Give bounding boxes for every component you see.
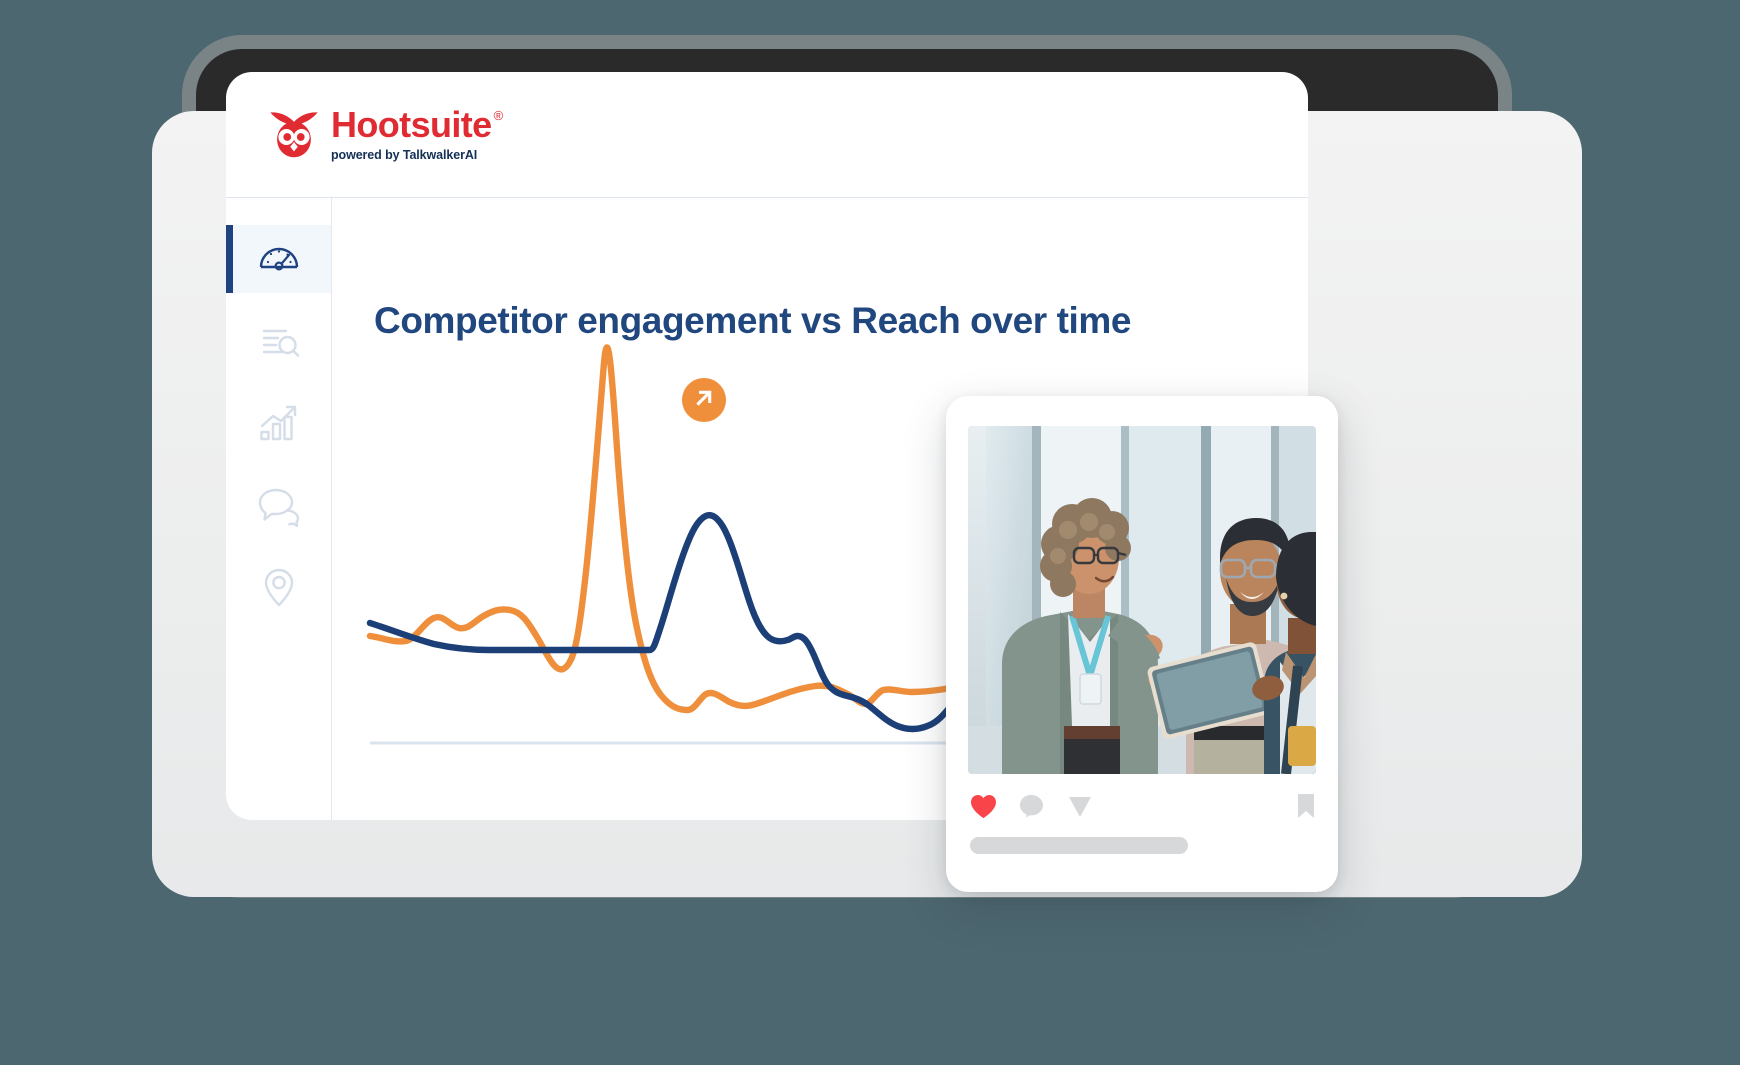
map-pin-icon	[256, 564, 302, 610]
sidebar	[226, 198, 331, 820]
brand-tagline: powered by TalkwalkerAI	[331, 148, 503, 162]
brand-wordmark: Hootsuite ®	[331, 107, 503, 143]
app-header: Hootsuite ® powered by TalkwalkerAI	[226, 72, 1308, 197]
comment-icon[interactable]	[1019, 794, 1045, 819]
post-action-bar	[970, 791, 1316, 821]
speech-bubbles-icon	[256, 482, 302, 528]
heart-icon[interactable]	[970, 794, 997, 819]
post-image	[968, 426, 1316, 774]
sidebar-item-analytics[interactable]	[226, 389, 331, 457]
social-post-card[interactable]	[946, 396, 1338, 892]
gauge-icon	[256, 236, 302, 282]
bookmark-icon[interactable]	[1296, 793, 1316, 819]
owl-icon	[267, 110, 321, 160]
sidebar-item-locations[interactable]	[226, 553, 331, 621]
sidebar-item-search[interactable]	[226, 307, 331, 375]
document-search-icon	[256, 318, 302, 364]
post-caption-placeholder	[970, 837, 1188, 854]
sidebar-item-dashboard[interactable]	[226, 225, 331, 293]
send-icon[interactable]	[1067, 794, 1093, 819]
brand-logo[interactable]: Hootsuite ® powered by TalkwalkerAI	[267, 107, 503, 162]
registered-mark: ®	[494, 109, 503, 122]
brand-name: Hootsuite	[331, 107, 492, 143]
sidebar-item-messages[interactable]	[226, 471, 331, 539]
bar-chart-trend-icon	[256, 400, 302, 446]
scene: Hootsuite ® powered by TalkwalkerAI	[0, 0, 1740, 1065]
